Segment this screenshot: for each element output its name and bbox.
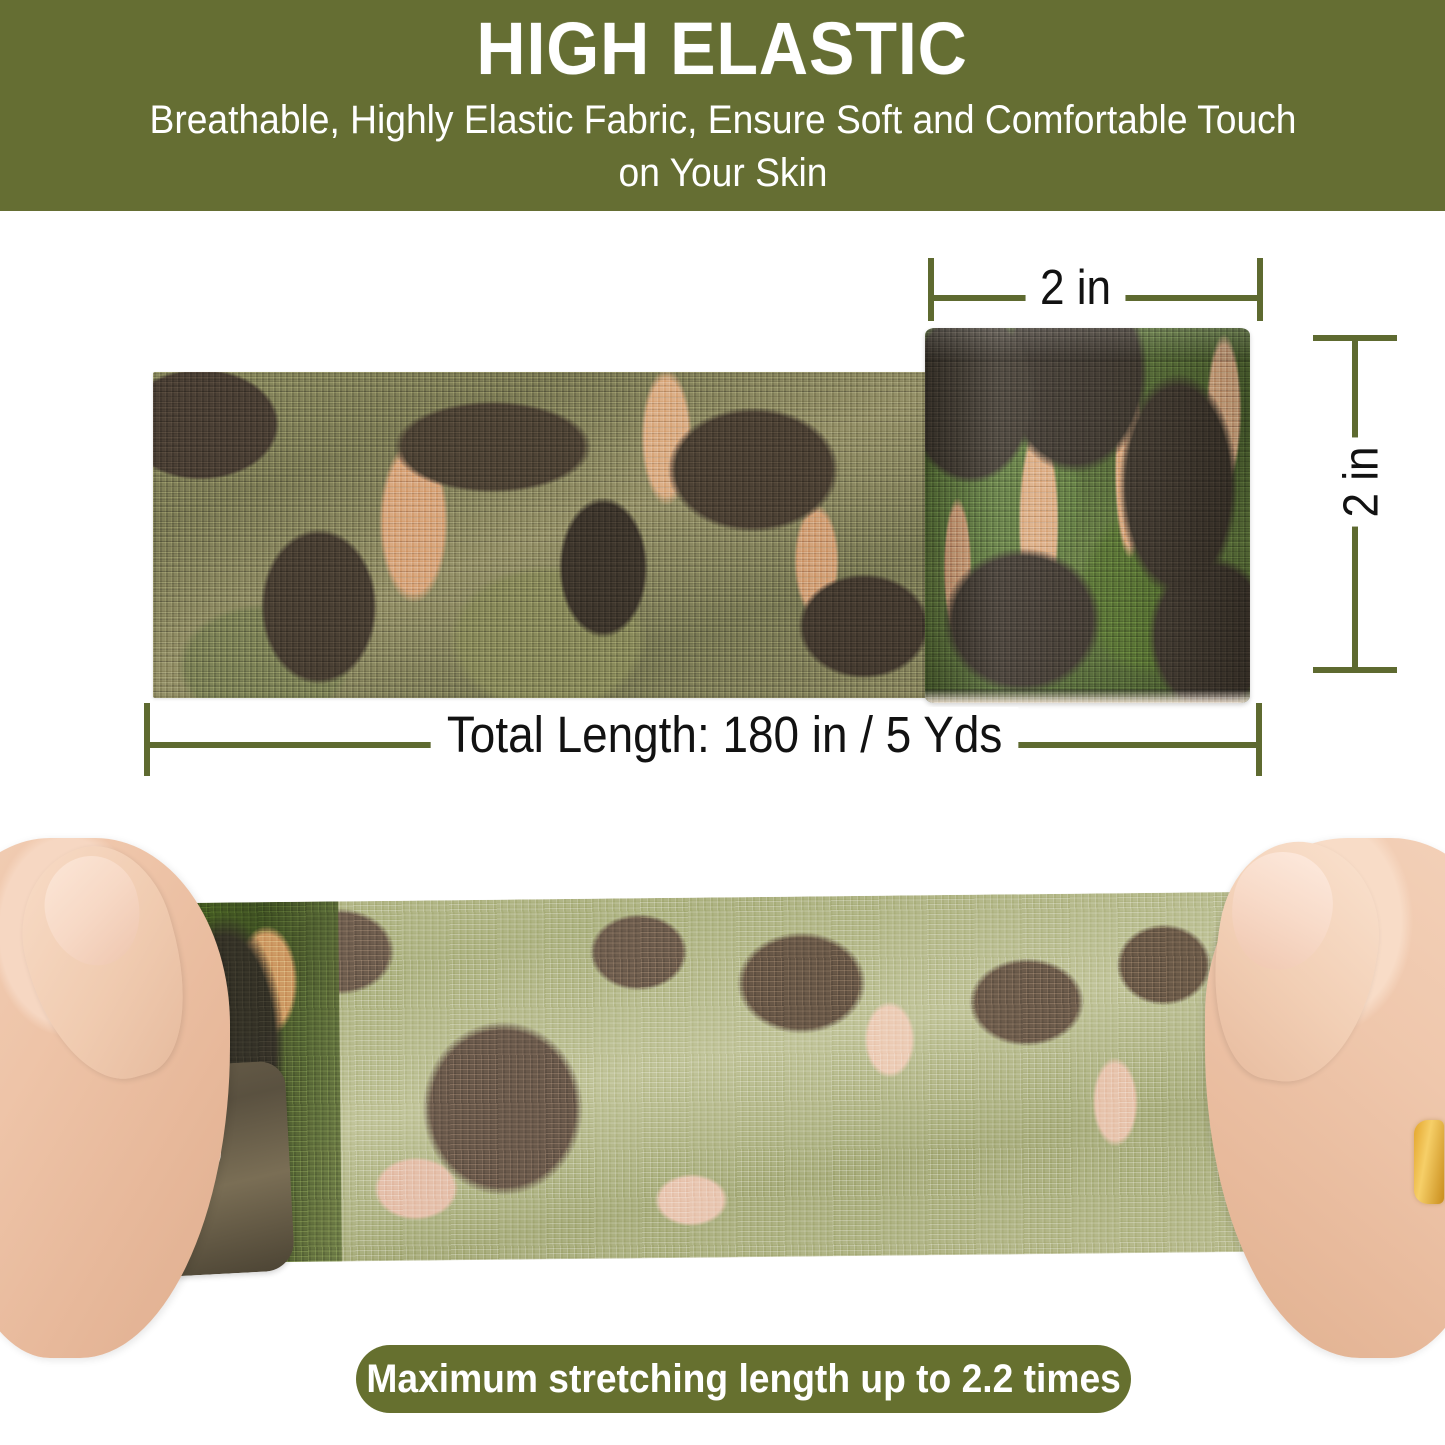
height-dimension-label: 2 in bbox=[1332, 437, 1392, 526]
roll-shading bbox=[925, 328, 1250, 703]
gold-ring bbox=[1414, 1120, 1444, 1204]
length-dimension-cap-right bbox=[1256, 703, 1262, 776]
width-dimension-cap-right bbox=[1257, 258, 1263, 321]
stretch-badge-label: Maximum stretching length up to 2.2 time… bbox=[366, 1357, 1120, 1401]
width-dimension-cap-left bbox=[928, 258, 934, 321]
product-photo-bottom bbox=[0, 838, 1445, 1358]
length-dimension-label: Total Length: 180 in / 5 Yds bbox=[431, 707, 1019, 763]
tape-roll-end bbox=[925, 328, 1250, 703]
roll-top-edge bbox=[925, 328, 1250, 362]
header-banner: HIGH ELASTIC Breathable, Highly Elastic … bbox=[0, 0, 1445, 211]
length-dimension-cap-left bbox=[144, 703, 150, 776]
stretch-badge: Maximum stretching length up to 2.2 time… bbox=[356, 1345, 1131, 1413]
roll-bottom-edge bbox=[925, 689, 1250, 703]
infographic-canvas: HIGH ELASTIC Breathable, Highly Elastic … bbox=[0, 0, 1445, 1445]
banner-subtitle: Breathable, Highly Elastic Fabric, Ensur… bbox=[141, 94, 1304, 200]
width-dimension-label: 2 in bbox=[1026, 262, 1126, 314]
tape-strip-unrolled bbox=[153, 372, 943, 698]
product-photo-top bbox=[140, 250, 1300, 700]
banner-title: HIGH ELASTIC bbox=[477, 6, 968, 92]
